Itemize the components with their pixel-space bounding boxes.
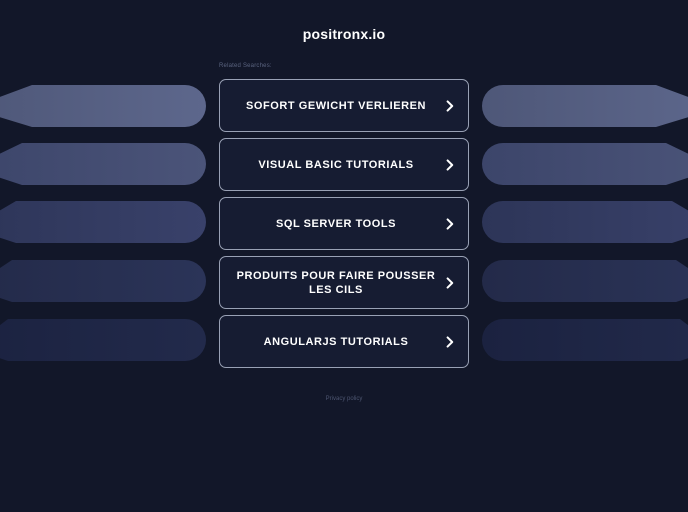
page-root: positronx.io Related Searches: SOFORT GE… (0, 0, 688, 512)
search-result-button[interactable]: SQL SERVER TOOLS (219, 197, 469, 250)
search-result-button[interactable]: SOFORT GEWICHT VERLIEREN (219, 79, 469, 132)
chevron-right-icon (444, 336, 456, 348)
chevron-right-icon (444, 218, 456, 230)
search-result-button[interactable]: VISUAL BASIC TUTORIALS (219, 138, 469, 191)
decorative-bars-right (482, 85, 688, 361)
chevron-right-icon (444, 277, 456, 289)
search-result-label: PRODUITS POUR FAIRE POUSSER LES CILS (237, 269, 436, 297)
page-title: positronx.io (0, 26, 688, 42)
search-result-label: VISUAL BASIC TUTORIALS (258, 158, 413, 172)
chevron-right-icon (444, 100, 456, 112)
search-result-label: ANGULARJS TUTORIALS (264, 335, 409, 349)
chevron-right-icon (444, 159, 456, 171)
search-result-button[interactable]: PRODUITS POUR FAIRE POUSSER LES CILS (219, 256, 469, 309)
search-result-label: SOFORT GEWICHT VERLIEREN (246, 99, 426, 113)
decorative-bars-left (0, 85, 206, 361)
related-searches-label: Related Searches: (219, 63, 272, 69)
search-result-button[interactable]: ANGULARJS TUTORIALS (219, 315, 469, 368)
related-searches-list: SOFORT GEWICHT VERLIEREN VISUAL BASIC TU… (219, 79, 469, 368)
privacy-policy-link[interactable]: Privacy policy (0, 396, 688, 402)
search-result-label: SQL SERVER TOOLS (276, 217, 396, 231)
